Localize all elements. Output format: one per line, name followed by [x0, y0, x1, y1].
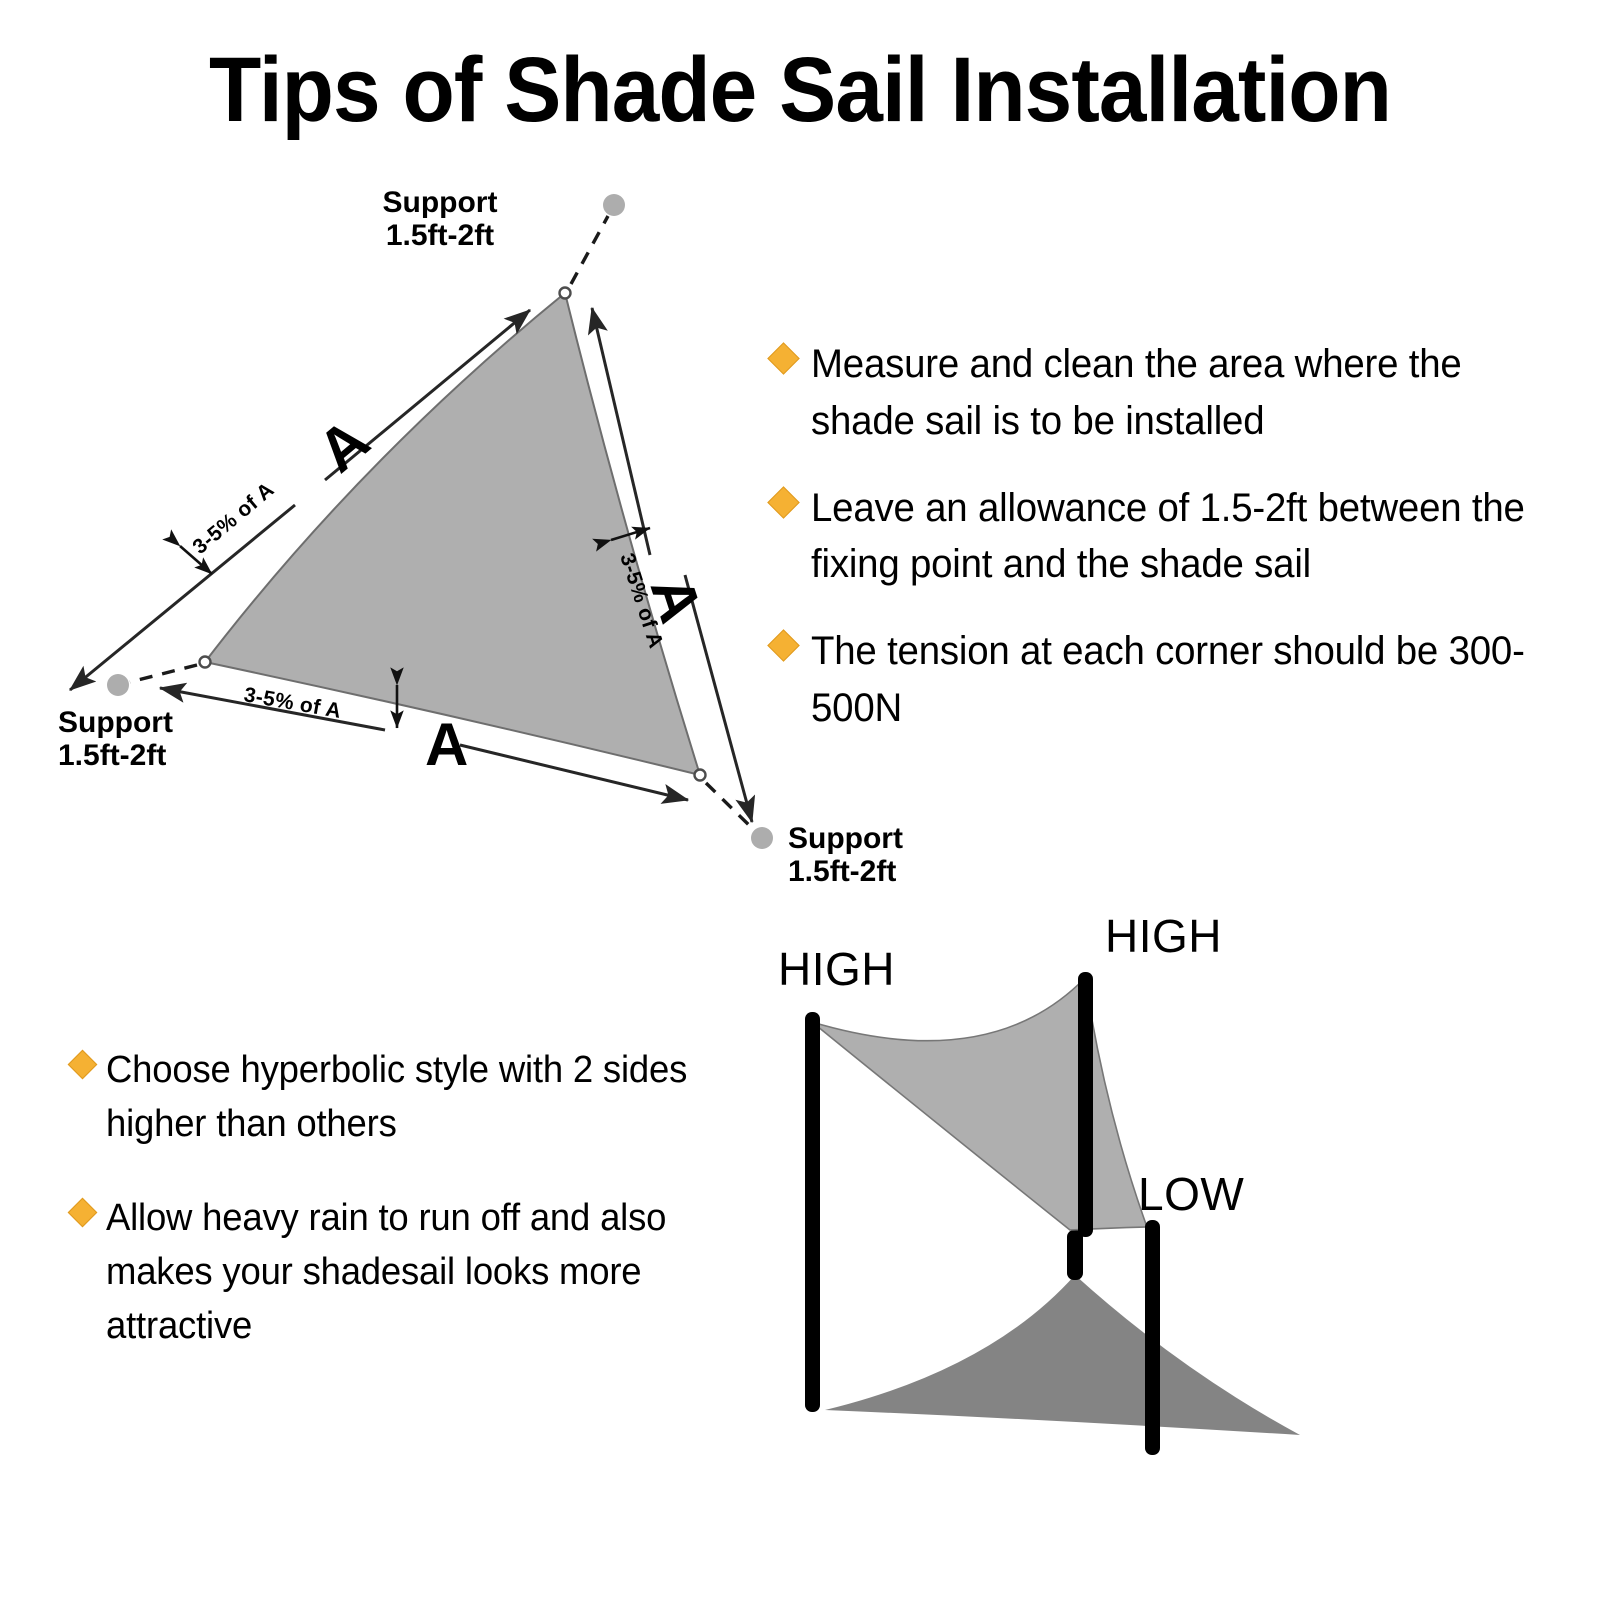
- diamond-icon: [767, 342, 800, 375]
- corner-eyelet-top: [560, 288, 571, 299]
- diamond-icon: [68, 1050, 98, 1080]
- dim-label-bottom: A: [425, 711, 468, 778]
- hyperbolic-sail-diagram: HIGH HIGH LOW: [760, 900, 1600, 1540]
- tip-item: Leave an allowance of 1.5-2ft between th…: [772, 480, 1562, 594]
- tips-list-left: Choose hyperbolic style with 2 sides hig…: [72, 1044, 772, 1394]
- tip-text: Measure and clean the area where the sha…: [811, 336, 1532, 450]
- diamond-icon: [767, 486, 800, 519]
- support-label-top-line1: Support: [383, 186, 498, 219]
- support-leader-left: [130, 665, 197, 682]
- post-label-left: HIGH: [778, 943, 895, 995]
- post-label-top-right: HIGH: [1105, 910, 1222, 962]
- offset-label-left: 3-5% of A: [188, 478, 278, 559]
- page-title: Tips of Shade Sail Installation: [56, 42, 1544, 139]
- tip-text: Allow heavy rain to run off and also mak…: [106, 1192, 745, 1354]
- tip-item: Measure and clean the area where the sha…: [772, 336, 1562, 450]
- support-label-br-line2: 1.5ft-2ft: [788, 855, 896, 888]
- tip-text: Leave an allowance of 1.5-2ft between th…: [811, 480, 1532, 594]
- tips-list-right: Measure and clean the area where the sha…: [772, 336, 1562, 767]
- diamond-icon: [68, 1198, 98, 1228]
- diamond-icon: [767, 629, 800, 662]
- post-middle: [1067, 1230, 1083, 1280]
- post-left: [805, 1012, 820, 1412]
- support-leader-top: [571, 216, 608, 284]
- support-label-left-line1: Support: [58, 706, 173, 739]
- support-label-left-line2: 1.5ft-2ft: [58, 739, 166, 772]
- post-label-right: LOW: [1138, 1168, 1244, 1220]
- support-label-br-line1: Support: [788, 822, 903, 855]
- post-right: [1145, 1220, 1160, 1455]
- support-label-top-line2: 1.5ft-2ft: [386, 219, 494, 252]
- support-dot-left: [107, 674, 129, 696]
- tip-text: The tension at each corner should be 300…: [811, 623, 1532, 737]
- support-leader-bottom-right: [706, 783, 752, 828]
- support-dot-bottom-right: [751, 827, 773, 849]
- tip-text: Choose hyperbolic style with 2 sides hig…: [106, 1044, 745, 1152]
- support-label-bottom-right: Support 1.5ft-2ft: [788, 822, 903, 888]
- tip-item: Allow heavy rain to run off and also mak…: [72, 1192, 772, 1354]
- post-top-right: [1078, 972, 1093, 1237]
- support-dot-top: [603, 194, 625, 216]
- tip-item: The tension at each corner should be 300…: [772, 623, 1562, 737]
- corner-eyelet-left: [200, 657, 211, 668]
- support-label-top: Support 1.5ft-2ft: [383, 186, 498, 252]
- tip-item: Choose hyperbolic style with 2 sides hig…: [72, 1044, 772, 1152]
- support-label-left: Support 1.5ft-2ft: [58, 706, 173, 772]
- sail-shadow: [825, 1275, 1300, 1435]
- dim-label-right: A: [638, 568, 715, 630]
- corner-eyelet-bottom-right: [695, 770, 706, 781]
- sail-surface: [812, 978, 1147, 1230]
